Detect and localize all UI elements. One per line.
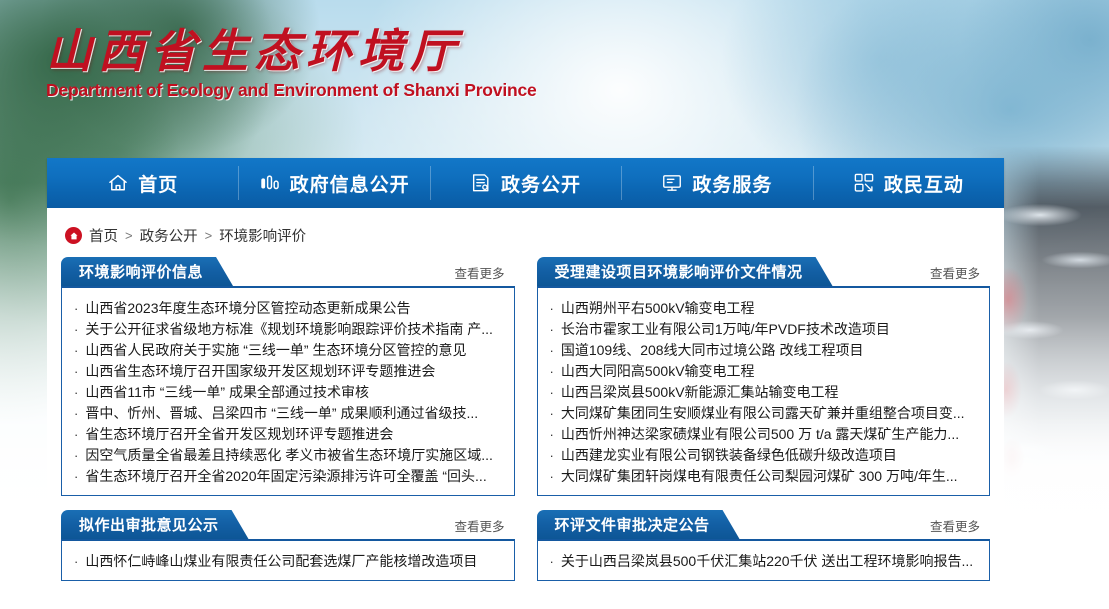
page-root: 山西省生态环境厅 Department of Ecology and Envir… bbox=[0, 0, 1109, 609]
list-item-text: 山西吕梁岚县500kV新能源汇集站输变电工程 bbox=[561, 385, 839, 399]
bullet-icon: · bbox=[550, 470, 554, 483]
site-title-en: Department of Ecology and Environment of… bbox=[46, 80, 537, 101]
bullet-icon: · bbox=[550, 449, 554, 462]
panel-body: ·山西省2023年度生态环境分区管控动态更新成果公告 ·关于公开征求省级地方标准… bbox=[61, 286, 515, 496]
bullet-icon: · bbox=[74, 407, 78, 420]
panel-title[interactable]: 受理建设项目环境影响评价文件情况 bbox=[537, 257, 833, 286]
breadcrumb-separator: > bbox=[125, 228, 133, 243]
list-item-text: 山西忻州神达梁家碛煤业有限公司500 万 t/a 露天煤矿生产能力... bbox=[561, 427, 959, 441]
breadcrumb-separator: > bbox=[205, 228, 213, 243]
list-item[interactable]: ·国道109线、208线大同市过境公路 改线工程项目 bbox=[548, 339, 980, 360]
list-item[interactable]: ·山西怀仁峙峰山煤业有限责任公司配套选煤厂产能核增改造项目 bbox=[72, 550, 504, 571]
panel-header: 环境影响评价信息 查看更多 bbox=[61, 257, 515, 286]
list-item-text: 省生态环境厅召开全省2020年固定污染源排污许可全覆盖 “回头... bbox=[85, 469, 486, 483]
bullet-icon: · bbox=[550, 386, 554, 399]
nav-label-public-interaction: 政民互动 bbox=[884, 170, 964, 197]
list-item-text: 山西怀仁峙峰山煤业有限责任公司配套选煤厂产能核增改造项目 bbox=[85, 554, 477, 568]
panel-body: ·关于山西吕梁岚县500千伏汇集站220千伏 送出工程环境影响报告... bbox=[537, 539, 991, 581]
bullet-icon: · bbox=[74, 555, 78, 568]
list-item-text: 山西建龙实业有限公司钢铁装备绿色低碳升级改造项目 bbox=[561, 448, 897, 462]
home-icon bbox=[65, 227, 82, 244]
panel-body: ·山西朔州平右500kV输变电工程 ·长治市霍家工业有限公司1万吨/年PVDF技… bbox=[537, 286, 991, 496]
list-item-text: 山西大同阳高500kV输变电工程 bbox=[561, 364, 755, 378]
nav-label-government-info: 政府信息公开 bbox=[290, 170, 410, 197]
list-item-text: 山西省人民政府关于实施 “三线一单” 生态环境分区管控的意见 bbox=[85, 343, 466, 357]
breadcrumb-item-0[interactable]: 首页 bbox=[89, 225, 118, 246]
list-item[interactable]: ·山西省2023年度生态环境分区管控动态更新成果公告 bbox=[72, 297, 504, 318]
view-more-link[interactable]: 查看更多 bbox=[930, 516, 990, 539]
panel-title[interactable]: 环评文件审批决定公告 bbox=[537, 510, 740, 539]
list-item-text: 省生态环境厅召开全省开发区规划环评专题推进会 bbox=[85, 427, 393, 441]
bullet-icon: · bbox=[74, 302, 78, 315]
list-item-text: 山西省生态环境厅召开国家级开发区规划环评专题推进会 bbox=[85, 364, 435, 378]
bullet-icon: · bbox=[74, 428, 78, 441]
breadcrumb: 首页 > 政务公开 > 环境影响评价 bbox=[47, 208, 1004, 246]
panel-header: 拟作出审批意见公示 查看更多 bbox=[61, 510, 515, 539]
list-item[interactable]: ·关于公开征求省级地方标准《规划环境影响跟踪评价技术指南 产... bbox=[72, 318, 504, 339]
bullet-icon: · bbox=[550, 428, 554, 441]
list-item[interactable]: ·大同煤矿集团同生安顺煤业有限公司露天矿兼并重组整合项目变... bbox=[548, 402, 980, 423]
nav-item-public-interaction[interactable]: 政民互动 bbox=[813, 158, 1004, 208]
list-item[interactable]: ·山西省人民政府关于实施 “三线一单” 生态环境分区管控的意见 bbox=[72, 339, 504, 360]
list-item-text: 因空气质量全省最差且持续恶化 孝义市被省生态环境厅实施区域... bbox=[85, 448, 493, 462]
list-item[interactable]: ·山西大同阳高500kV输变电工程 bbox=[548, 360, 980, 381]
news-list: ·山西省2023年度生态环境分区管控动态更新成果公告 ·关于公开征求省级地方标准… bbox=[72, 297, 504, 486]
list-item-text: 长治市霍家工业有限公司1万吨/年PVDF技术改造项目 bbox=[561, 322, 890, 336]
bullet-icon: · bbox=[74, 470, 78, 483]
list-item-text: 大同煤矿集团同生安顺煤业有限公司露天矿兼并重组整合项目变... bbox=[561, 406, 965, 420]
nav-label-affairs-disclosure: 政务公开 bbox=[501, 170, 581, 197]
list-item-text: 大同煤矿集团轩岗煤电有限责任公司梨园河煤矿 300 万吨/年生... bbox=[561, 469, 958, 483]
bullet-icon: · bbox=[74, 365, 78, 378]
bullet-icon: · bbox=[74, 386, 78, 399]
news-list: ·关于山西吕梁岚县500千伏汇集站220千伏 送出工程环境影响报告... bbox=[548, 550, 980, 571]
list-item[interactable]: ·山西建龙实业有限公司钢铁装备绿色低碳升级改造项目 bbox=[548, 444, 980, 465]
breadcrumb-item-2[interactable]: 环境影响评价 bbox=[219, 225, 306, 246]
list-item-text: 山西省2023年度生态环境分区管控动态更新成果公告 bbox=[85, 301, 410, 315]
panel-title[interactable]: 环境影响评价信息 bbox=[61, 257, 233, 286]
monitor-icon bbox=[661, 172, 683, 194]
nav-item-affairs-disclosure[interactable]: 政务公开 bbox=[430, 158, 621, 208]
home-icon bbox=[107, 172, 129, 194]
list-item-text: 关于山西吕梁岚县500千伏汇集站220千伏 送出工程环境影响报告... bbox=[561, 554, 973, 568]
list-item[interactable]: ·大同煤矿集团轩岗煤电有限责任公司梨园河煤矿 300 万吨/年生... bbox=[548, 465, 980, 486]
list-item[interactable]: ·省生态环境厅召开全省2020年固定污染源排污许可全覆盖 “回头... bbox=[72, 465, 504, 486]
bar-chart-icon bbox=[259, 172, 281, 194]
list-item[interactable]: ·晋中、忻州、晋城、吕梁四市 “三线一单” 成果顺利通过省级技... bbox=[72, 402, 504, 423]
panel-grid: 环境影响评价信息 查看更多 ·山西省2023年度生态环境分区管控动态更新成果公告… bbox=[47, 246, 1004, 595]
list-item[interactable]: ·省生态环境厅召开全省开发区规划环评专题推进会 bbox=[72, 423, 504, 444]
panel-approval-decision-announcement: 环评文件审批决定公告 查看更多 ·关于山西吕梁岚县500千伏汇集站220千伏 送… bbox=[537, 510, 991, 581]
interaction-icon bbox=[853, 172, 875, 194]
list-item-text: 晋中、忻州、晋城、吕梁四市 “三线一单” 成果顺利通过省级技... bbox=[85, 406, 478, 420]
bullet-icon: · bbox=[550, 365, 554, 378]
news-list: ·山西朔州平右500kV输变电工程 ·长治市霍家工业有限公司1万吨/年PVDF技… bbox=[548, 297, 980, 486]
panel-body: ·山西怀仁峙峰山煤业有限责任公司配套选煤厂产能核增改造项目 bbox=[61, 539, 515, 581]
panel-proposed-approval-notice: 拟作出审批意见公示 查看更多 ·山西怀仁峙峰山煤业有限责任公司配套选煤厂产能核增… bbox=[61, 510, 515, 581]
document-icon bbox=[470, 172, 492, 194]
content-area: 首页 > 政务公开 > 环境影响评价 环境影响评价信息 查看更多 ·山西省202… bbox=[47, 208, 1004, 609]
view-more-link[interactable]: 查看更多 bbox=[454, 516, 514, 539]
list-item[interactable]: ·因空气质量全省最差且持续恶化 孝义市被省生态环境厅实施区域... bbox=[72, 444, 504, 465]
bullet-icon: · bbox=[74, 344, 78, 357]
list-item[interactable]: ·关于山西吕梁岚县500千伏汇集站220千伏 送出工程环境影响报告... bbox=[548, 550, 980, 571]
bullet-icon: · bbox=[550, 555, 554, 568]
panel-title[interactable]: 拟作出审批意见公示 bbox=[61, 510, 249, 539]
panel-environmental-impact-info: 环境影响评价信息 查看更多 ·山西省2023年度生态环境分区管控动态更新成果公告… bbox=[61, 257, 515, 496]
list-item[interactable]: ·山西忻州神达梁家碛煤业有限公司500 万 t/a 露天煤矿生产能力... bbox=[548, 423, 980, 444]
list-item-text: 山西朔州平右500kV输变电工程 bbox=[561, 301, 755, 315]
bullet-icon: · bbox=[74, 323, 78, 336]
site-title-cn: 山西省生态环境厅 bbox=[46, 26, 537, 78]
nav-label-home: 首页 bbox=[138, 170, 178, 197]
panel-accepted-eia-documents: 受理建设项目环境影响评价文件情况 查看更多 ·山西朔州平右500kV输变电工程 … bbox=[537, 257, 991, 496]
nav-item-government-info[interactable]: 政府信息公开 bbox=[238, 158, 429, 208]
bullet-icon: · bbox=[550, 302, 554, 315]
list-item[interactable]: ·山西吕梁岚县500kV新能源汇集站输变电工程 bbox=[548, 381, 980, 402]
bullet-icon: · bbox=[550, 323, 554, 336]
bullet-icon: · bbox=[74, 449, 78, 462]
bullet-icon: · bbox=[550, 407, 554, 420]
nav-item-home[interactable]: 首页 bbox=[47, 158, 238, 208]
main-navigation: 首页 政府信息公开 政务公开 bbox=[47, 158, 1004, 208]
list-item[interactable]: ·长治市霍家工业有限公司1万吨/年PVDF技术改造项目 bbox=[548, 318, 980, 339]
list-item-text: 山西省11市 “三线一单” 成果全部通过技术审核 bbox=[85, 385, 369, 399]
list-item[interactable]: ·山西省11市 “三线一单” 成果全部通过技术审核 bbox=[72, 381, 504, 402]
nav-label-affairs-service: 政务服务 bbox=[692, 170, 772, 197]
news-list: ·山西怀仁峙峰山煤业有限责任公司配套选煤厂产能核增改造项目 bbox=[72, 550, 504, 571]
view-more-link[interactable]: 查看更多 bbox=[930, 263, 990, 286]
list-item[interactable]: ·山西朔州平右500kV输变电工程 bbox=[548, 297, 980, 318]
panel-header: 受理建设项目环境影响评价文件情况 查看更多 bbox=[537, 257, 991, 286]
nav-item-affairs-service[interactable]: 政务服务 bbox=[621, 158, 812, 208]
list-item-text: 国道109线、208线大同市过境公路 改线工程项目 bbox=[561, 343, 864, 357]
panel-header: 环评文件审批决定公告 查看更多 bbox=[537, 510, 991, 539]
site-logo: 山西省生态环境厅 Department of Ecology and Envir… bbox=[46, 26, 537, 101]
breadcrumb-item-1[interactable]: 政务公开 bbox=[140, 225, 198, 246]
list-item-text: 关于公开征求省级地方标准《规划环境影响跟踪评价技术指南 产... bbox=[85, 322, 493, 336]
bullet-icon: · bbox=[550, 344, 554, 357]
view-more-link[interactable]: 查看更多 bbox=[454, 263, 514, 286]
list-item[interactable]: ·山西省生态环境厅召开国家级开发区规划环评专题推进会 bbox=[72, 360, 504, 381]
